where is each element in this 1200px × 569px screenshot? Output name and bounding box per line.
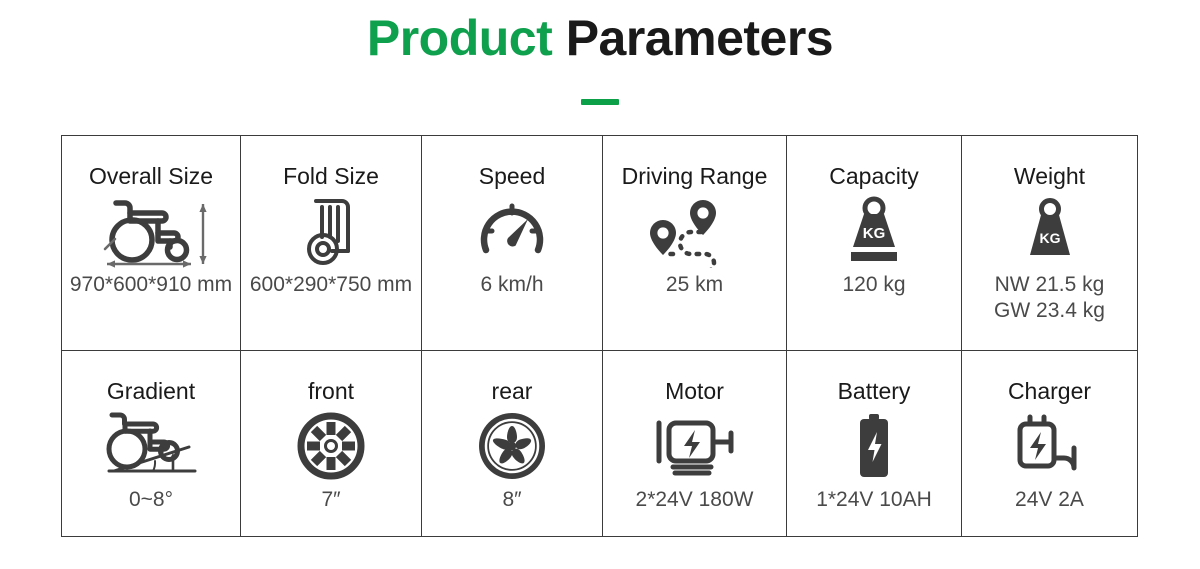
param-cell-charger: Charger	[962, 351, 1138, 537]
page-title: Product Parameters	[0, 8, 1200, 68]
param-value: 970*600*910 mm	[70, 272, 232, 298]
param-value-line1: NW 21.5 kg	[994, 272, 1105, 298]
param-value: 6 km/h	[480, 272, 543, 298]
param-cell-speed: Speed	[422, 136, 603, 351]
param-label: Battery	[838, 377, 911, 405]
param-value: 7″	[321, 487, 340, 513]
param-label: Capacity	[829, 162, 918, 190]
electric-motor-icon	[647, 409, 743, 483]
param-cell-front-wheel: front	[241, 351, 422, 537]
param-label: Weight	[1014, 162, 1085, 190]
kg-weight-platform-icon: KG	[838, 194, 910, 268]
param-cell-gradient: Gradient	[62, 351, 241, 537]
alloy-wheel-icon	[476, 409, 548, 483]
param-label: Speed	[479, 162, 546, 190]
param-label: Motor	[665, 377, 724, 405]
page-header: Product Parameters	[0, 0, 1200, 105]
param-value: 25 km	[666, 272, 723, 298]
param-label: Charger	[1008, 377, 1091, 405]
param-value: 600*290*750 mm	[250, 272, 412, 298]
param-cell-rear-wheel: rear	[422, 351, 603, 537]
param-value-line2: GW 23.4 kg	[994, 298, 1105, 324]
param-value: 8″	[502, 487, 521, 513]
param-label: Overall Size	[89, 162, 213, 190]
param-cell-weight: Weight KG NW 21.5 kg	[962, 136, 1138, 351]
param-value: 120 kg	[842, 272, 905, 298]
param-cell-fold-size: Fold Size	[241, 136, 422, 351]
param-cell-capacity: Capacity KG 120 kg	[787, 136, 962, 351]
wheelchair-dimensions-icon	[85, 194, 217, 268]
param-label: front	[308, 377, 354, 405]
param-cell-overall-size: Overall Size	[62, 136, 241, 351]
battery-icon	[849, 409, 899, 483]
table-row: Gradient	[62, 351, 1138, 537]
speedometer-icon	[472, 194, 552, 268]
svg-text:KG: KG	[863, 225, 886, 242]
param-label: Fold Size	[283, 162, 379, 190]
param-label: Gradient	[107, 377, 195, 405]
param-value: 2*24V 180W	[636, 487, 754, 513]
page-title-accent: Product	[367, 10, 552, 66]
param-value: NW 21.5 kg GW 23.4 kg	[994, 272, 1105, 324]
spoke-wheel-icon	[295, 409, 367, 483]
param-value: 0~8°	[129, 487, 173, 513]
route-pins-icon	[641, 194, 749, 268]
title-divider	[581, 99, 619, 105]
kg-weight-icon: KG	[1019, 194, 1081, 268]
parameters-table-wrapper: Overall Size	[61, 135, 1137, 537]
parameters-table: Overall Size	[61, 135, 1138, 537]
param-cell-driving-range: Driving Range	[603, 136, 787, 351]
page-title-plain: Parameters	[566, 10, 833, 66]
table-row: Overall Size	[62, 136, 1138, 351]
param-label: Driving Range	[622, 162, 768, 190]
param-value: 24V 2A	[1015, 487, 1084, 513]
charger-plug-icon	[1008, 409, 1092, 483]
param-cell-battery: Battery 1*24V 10AH	[787, 351, 962, 537]
wheelchair-slope-icon	[91, 409, 211, 483]
param-cell-motor: Motor	[603, 351, 787, 537]
param-value: 1*24V 10AH	[816, 487, 932, 513]
folded-wheelchair-icon	[296, 194, 366, 268]
svg-text:KG: KG	[1039, 230, 1060, 246]
param-label: rear	[492, 377, 533, 405]
